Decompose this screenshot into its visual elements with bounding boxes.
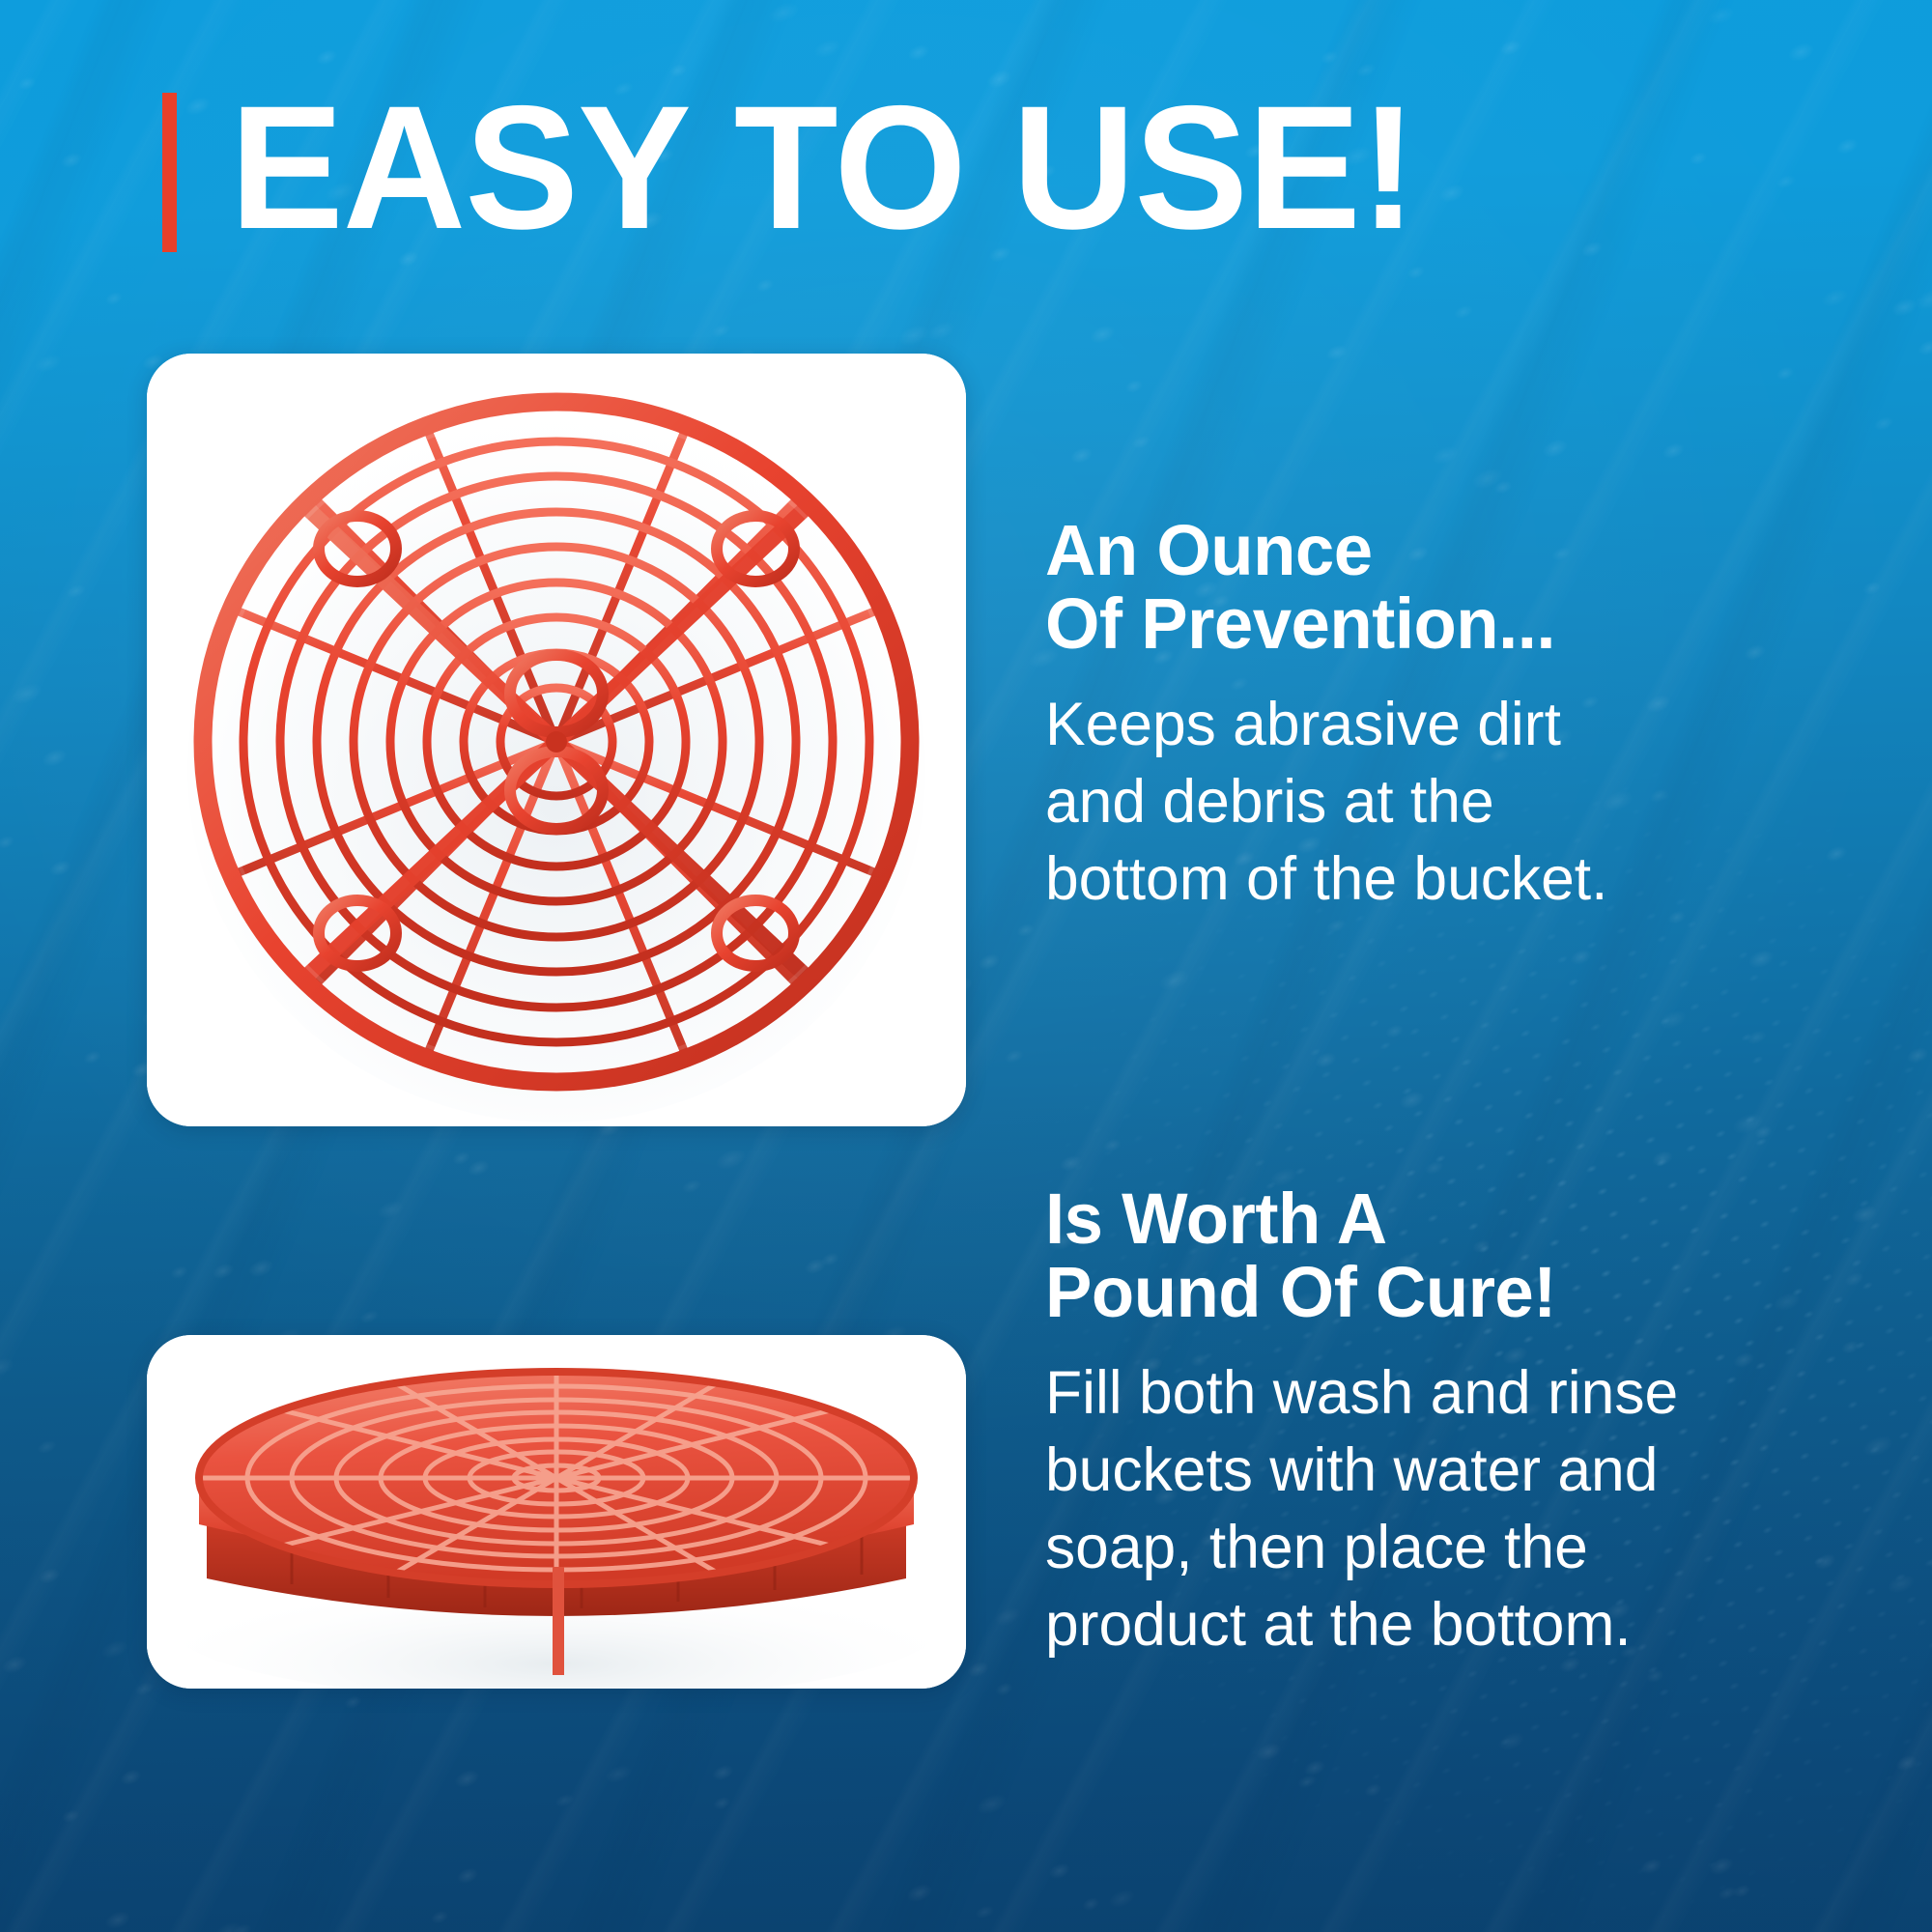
heading-line: Is Worth A xyxy=(1045,1182,1840,1256)
page-title: EASY TO USE! xyxy=(230,87,1416,248)
body-line: and debris at the xyxy=(1045,763,1849,840)
infographic-poster: EASY TO USE! xyxy=(0,0,1932,1932)
heading-line: An Ounce xyxy=(1045,514,1840,587)
body-line: Fill both wash and rinse xyxy=(1045,1354,1849,1432)
header: EASY TO USE! xyxy=(162,87,1453,252)
grit-guard-sideview-illustration xyxy=(147,1335,966,1689)
feature-body-prevention: Keeps abrasive dirt and debris at the bo… xyxy=(1045,686,1849,918)
body-line: bottom of the bucket. xyxy=(1045,840,1849,918)
feature-body-cure: Fill both wash and rinse buckets with wa… xyxy=(1045,1354,1849,1663)
grit-guard-topdown-illustration xyxy=(147,354,966,1126)
feature-heading-cure: Is Worth A Pound Of Cure! xyxy=(1045,1182,1840,1329)
body-line: buckets with water and xyxy=(1045,1432,1849,1509)
heading-line: Of Prevention... xyxy=(1045,587,1840,661)
red-accent-bar xyxy=(162,93,177,252)
feature-block-cure: Is Worth A Pound Of Cure! Fill both wash… xyxy=(1045,1182,1857,1663)
feature-block-prevention: An Ounce Of Prevention... Keeps abrasive… xyxy=(1045,514,1857,918)
heading-line: Pound Of Cure! xyxy=(1045,1256,1840,1329)
body-line: Keeps abrasive dirt xyxy=(1045,686,1849,763)
product-photo-card-top xyxy=(147,354,966,1126)
body-line: soap, then place the xyxy=(1045,1509,1849,1586)
feature-heading-prevention: An Ounce Of Prevention... xyxy=(1045,514,1840,661)
product-photo-card-bottom xyxy=(147,1335,966,1689)
body-line: product at the bottom. xyxy=(1045,1586,1849,1663)
